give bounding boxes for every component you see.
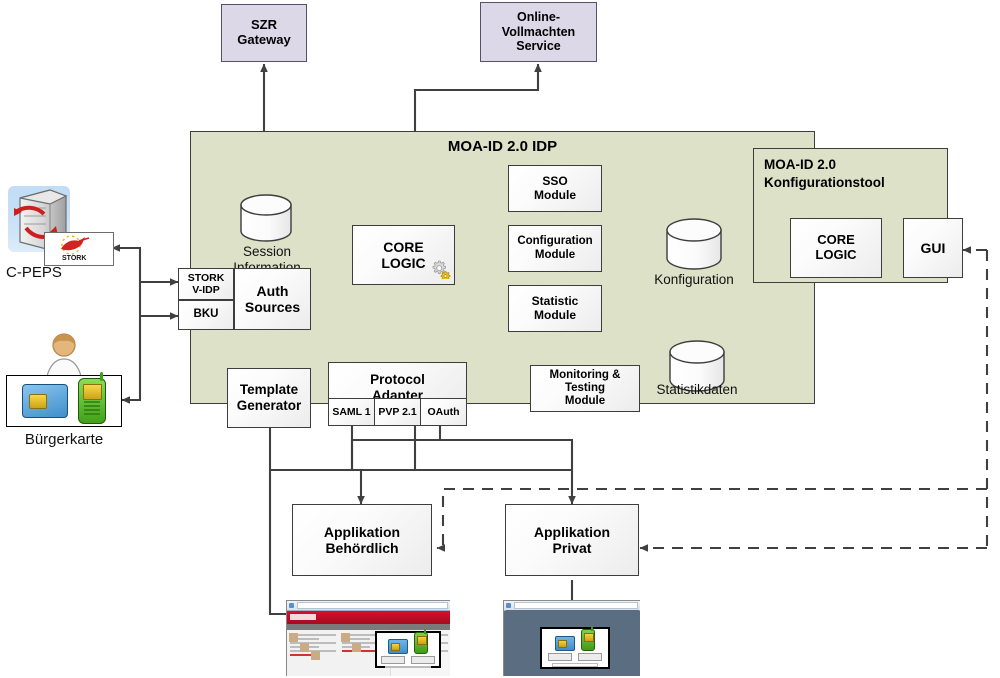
cylinder-shape [665,218,723,270]
configuration-module-label-line1: Configuration [517,235,592,248]
bottom-bus-d [440,440,572,470]
session-information-db [239,194,293,242]
stork-logo-box: STORK [44,232,114,266]
monitoring-module-label-line1: Monitoring & [550,369,621,382]
tool-core-logic-box[interactable]: CORE LOGIC [790,218,882,278]
buergerkarte-label: Bürgerkarte [2,431,126,448]
popup-buttons [381,656,435,664]
page-thumb [352,643,361,652]
mobile-phone-icon[interactable] [581,629,595,651]
arrow-to-cpeps [112,248,140,260]
stork-vidp-label-line2: V-IDP [192,284,219,296]
stork-bird-icon: STORK [45,233,111,263]
konfigurationstool-title-line2: Konfigurationstool [764,175,947,190]
konfiguration-db-label: Konfiguration [639,272,749,288]
applikation-privat-label-line2: Privat [553,540,592,556]
browser-chrome [287,601,450,611]
phone-screen [83,384,102,400]
architecture-diagram: MOA-ID 2.0 IDP MOA-ID 2.0 Konfigurations… [0,0,1000,678]
karte-button[interactable] [548,653,572,661]
bku-selection-popup[interactable] [375,631,441,668]
configuration-module-box[interactable]: Configuration Module [508,225,602,272]
page-thumb [311,651,320,660]
browser-dot [506,603,511,608]
protocol-pvp21-label: PVP 2.1 [378,406,416,418]
core-logic-box[interactable]: CORE LOGIC [352,225,455,285]
text-line [290,642,336,644]
popup-buttons [548,653,602,661]
buergerkarte-box[interactable] [6,375,122,427]
browser-dot [289,603,294,608]
template-generator-label-line1: Template [240,382,298,398]
tool-gui-box[interactable]: GUI [903,218,963,278]
gear-icon [429,259,451,282]
karte-button[interactable] [381,656,405,664]
szr-gateway-label-line2: Gateway [237,33,290,48]
sso-module-box[interactable]: SSO Module [508,165,602,212]
statistic-module-box[interactable]: Statistic Module [508,285,602,332]
konfigurationstool-title-line1: MOA-ID 2.0 [764,157,947,172]
browser-window [503,600,640,676]
handy-button[interactable] [578,653,602,661]
applikation-behoerdlich-label-line2: Behördlich [325,540,398,556]
bottom-bus-b [352,440,440,470]
browser-address-bar [514,602,638,609]
site-banner [287,611,450,624]
szr-gateway-label-line1: SZR [251,18,277,33]
bku-box[interactable]: BKU [178,300,234,330]
vertretung-checkbox-row[interactable] [385,666,431,668]
bku-selection-popup[interactable] [540,627,610,669]
core-logic-label-line1: CORE [383,239,423,255]
tool-core-logic-label-line1: CORE [817,233,855,248]
arrow-to-online-vollmachten [415,64,538,136]
auth-sources-label-line2: Sources [245,299,300,315]
szr-gateway-box[interactable]: SZR Gateway [221,4,307,62]
sso-module-label-line2: Module [534,189,576,203]
browser-address-bar [297,602,448,609]
smartcard-icon [22,384,68,418]
auth-sources-label-line1: Auth [257,283,289,299]
idp-container-title: MOA-ID 2.0 IDP [191,138,814,155]
protocol-oauth-label: OAuth [427,406,459,418]
sso-module-label-line1: SSO [542,175,567,189]
session-information-label-line1: Session [211,244,323,260]
cpeps-label: C-PEPS [2,264,98,281]
template-generator-label-line2: Generator [237,398,302,414]
arrow-to-buergerkarte [122,330,140,400]
vertretung-checkbox-row[interactable] [552,663,598,667]
online-vollmachten-label-line3: Service [516,39,560,53]
online-vollmachten-label-line2: Vollmachten [502,25,575,39]
page-thumb [289,633,298,642]
protocol-pvp21-box[interactable]: PVP 2.1 [375,398,421,426]
bku-label: BKU [194,308,219,321]
screenshot-behoerdlich[interactable] [286,600,450,676]
mobile-phone-icon [78,378,106,424]
statistic-module-label-line2: Module [534,309,576,323]
smartcard-icon[interactable] [555,636,575,651]
stork-vidp-box[interactable]: STORK V-IDP [178,268,234,300]
protocol-oauth-box[interactable]: OAuth [421,398,467,426]
browser-window [286,600,450,676]
tool-gui-label: GUI [921,240,946,256]
tool-core-logic-label-line2: LOGIC [815,248,856,263]
applikation-privat-box[interactable]: Applikation Privat [505,504,639,576]
page-column-left [287,630,339,676]
auth-sources-box[interactable]: Auth Sources [234,268,311,330]
phone-keypad [84,401,100,417]
online-vollmachten-label-line1: Online- [517,10,560,24]
core-logic-label-line2: LOGIC [381,255,425,271]
screenshot-privat[interactable] [503,600,640,676]
page-thumb [341,633,350,642]
applikation-behoerdlich-box[interactable]: Applikation Behördlich [292,504,432,576]
handy-button[interactable] [411,656,435,664]
konfiguration-db [665,218,723,270]
page-thumb [300,643,309,652]
applikation-privat-label-line1: Applikation [534,524,610,540]
smartcard-icon[interactable] [388,639,408,654]
protocol-saml1-label: SAML 1 [332,406,370,418]
protocol-adapter-protocols: SAML 1 PVP 2.1 OAuth [328,398,467,426]
statistikdaten-db-label: Statistikdaten [641,382,753,398]
template-generator-box[interactable]: Template Generator [227,368,311,428]
popup-icons [388,632,428,654]
protocol-saml1-box[interactable]: SAML 1 [328,398,375,426]
stork-logo-text: STORK [62,255,86,262]
protocol-adapter-label-line1: Protocol [370,372,425,388]
statistic-module-label-line1: Statistic [532,295,579,309]
monitoring-module-label-line3: Module [565,395,605,408]
stork-vidp-label-line1: STORK [188,272,225,284]
mobile-phone-icon[interactable] [414,632,428,654]
monitoring-module-label-line2: Testing [565,382,605,395]
monitoring-testing-module-box[interactable]: Monitoring & Testing Module [530,365,640,412]
online-vollmachten-service-box[interactable]: Online- Vollmachten Service [480,2,597,62]
configuration-module-label-line2: Module [535,249,575,262]
popup-icons [555,629,595,651]
cylinder-shape [239,194,293,242]
phone-antenna [100,372,103,381]
applikation-behoerdlich-label-line1: Applikation [324,524,400,540]
